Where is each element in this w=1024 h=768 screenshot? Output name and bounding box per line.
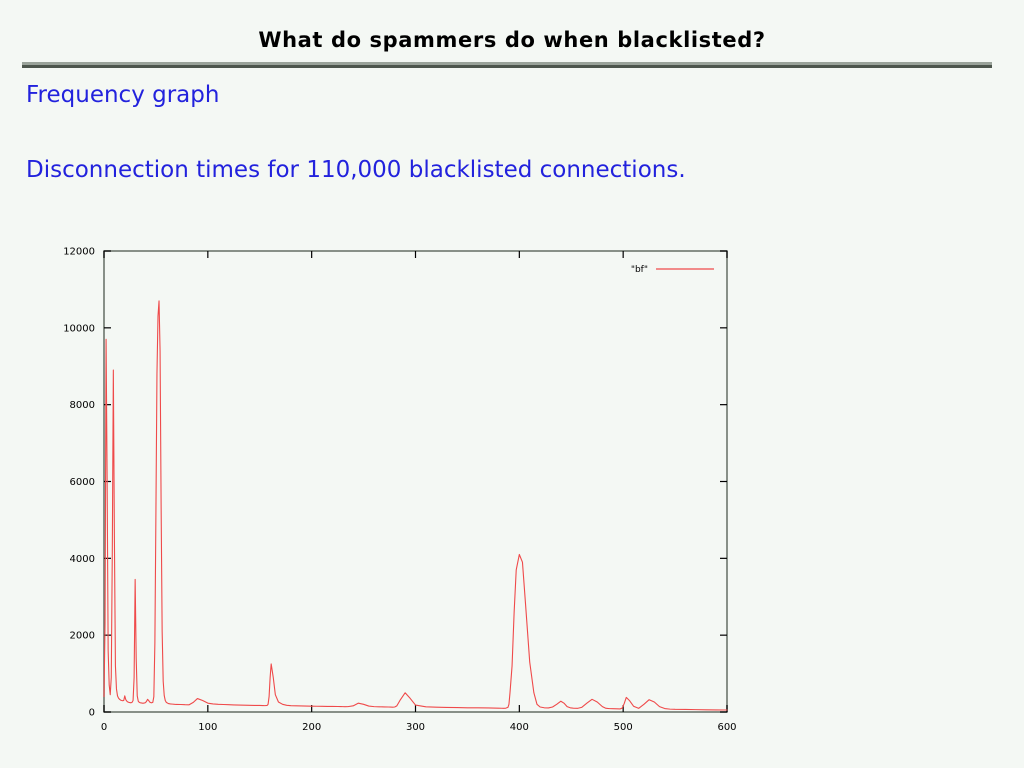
x-tick-label: 300	[406, 722, 425, 733]
y-tick-label: 4000	[70, 554, 95, 565]
y-tick-label: 2000	[70, 631, 95, 642]
title-divider	[22, 62, 992, 68]
bullet-disconnection-times: Disconnection times for 110,000 blacklis…	[26, 157, 686, 183]
y-tick-label: 8000	[70, 400, 95, 411]
x-tick-label: 100	[198, 722, 217, 733]
page-title: What do spammers do when blacklisted?	[0, 28, 1024, 52]
legend-label: "bf"	[631, 265, 648, 275]
x-axis-ticks: 0100200300400500600	[101, 251, 737, 733]
x-tick-label: 0	[101, 722, 107, 733]
x-tick-label: 200	[302, 722, 321, 733]
series-line	[104, 301, 727, 710]
y-tick-label: 10000	[63, 323, 95, 334]
y-tick-label: 0	[89, 708, 95, 719]
series-group	[104, 301, 727, 710]
chart-legend: "bf"	[631, 265, 714, 275]
chart-canvas: 020004000600080001000012000 010020030040…	[40, 238, 760, 738]
y-tick-label: 12000	[63, 247, 95, 258]
divider-bottom-line	[22, 65, 992, 68]
x-tick-label: 600	[717, 722, 736, 733]
x-tick-label: 400	[510, 722, 529, 733]
frequency-chart: 020004000600080001000012000 010020030040…	[40, 238, 760, 738]
y-tick-label: 6000	[70, 477, 95, 488]
bullet-frequency-graph: Frequency graph	[26, 82, 219, 108]
slide: What do spammers do when blacklisted? Fr…	[0, 0, 1024, 768]
x-tick-label: 500	[614, 722, 633, 733]
chart-frame	[104, 251, 727, 712]
